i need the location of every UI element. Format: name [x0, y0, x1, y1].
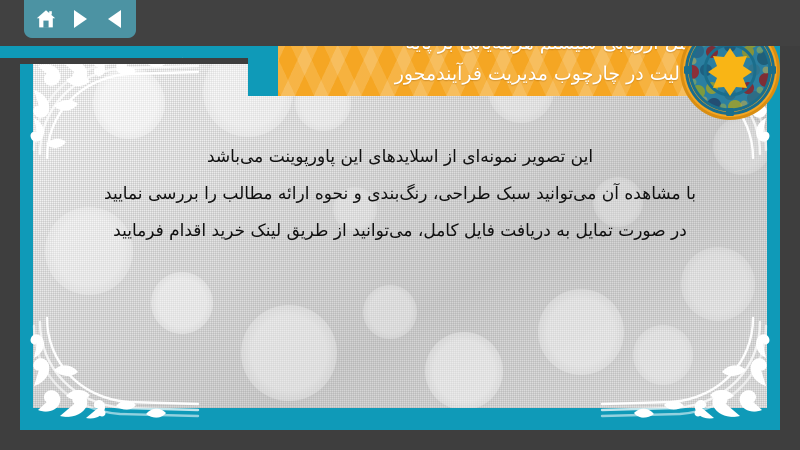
top-bar	[0, 0, 800, 46]
slide-content-frame: این تصویر نمونه‌ای از اسلایدهای این پاور…	[20, 46, 780, 430]
bokeh-circle	[425, 332, 503, 408]
title-line-2: فعالیت در چارچوب مدیریت فرآیندمحور	[288, 59, 704, 90]
forward-button[interactable]	[67, 6, 93, 32]
bokeh-circle	[363, 285, 417, 339]
slide-body-text: این تصویر نمونه‌ای از اسلایدهای این پاور…	[61, 139, 739, 250]
home-icon	[34, 7, 58, 31]
body-line-1: این تصویر نمونه‌ای از اسلایدهای این پاور…	[61, 139, 739, 176]
back-button[interactable]	[101, 6, 127, 32]
bokeh-circle	[681, 247, 755, 321]
bokeh-circle	[538, 289, 624, 375]
body-line-2: با مشاهده آن می‌توانید سبک طراحی، رنگ‌بن…	[61, 176, 739, 213]
triangle-left-icon	[108, 10, 121, 28]
slide-content-area: این تصویر نمونه‌ای از اسلایدهای این پاور…	[33, 57, 767, 408]
body-line-3: در صورت تمایل به دریافت فایل کامل، می‌تو…	[61, 213, 739, 250]
presentation-slide: کامل ارزیابی سیستم هزینه‌یابی بر پایه فع…	[0, 0, 800, 450]
bokeh-circle	[151, 272, 213, 334]
navigation-controls	[24, 0, 136, 38]
bokeh-circle	[241, 305, 337, 401]
bokeh-circle	[93, 67, 165, 139]
triangle-right-icon	[74, 10, 87, 28]
bokeh-circle	[633, 325, 693, 385]
home-button[interactable]	[33, 6, 59, 32]
